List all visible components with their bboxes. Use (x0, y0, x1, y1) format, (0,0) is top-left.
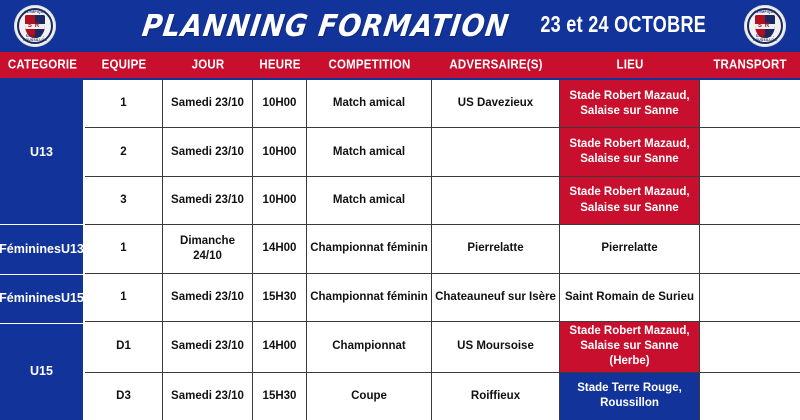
crest-bottom-text: SALAISE - ROUSSILLON (744, 34, 786, 42)
table-row: 1Samedi 23/1010H00Match amicalUS Davezie… (85, 80, 800, 128)
cell-competition: Coupe (307, 373, 432, 420)
column-header-heure: HEURE (253, 50, 307, 80)
category-label-line: Féminines (0, 290, 61, 307)
table-header-row: CATEGORIE EQUIPE JOUR HEURE COMPETITION … (0, 52, 800, 80)
planning-poster: OLYMPIQUE SR SALAISE - ROUSSILLON PLANNI… (0, 0, 800, 420)
category-cell: FémininesU13 (0, 225, 83, 274)
cell-competition: Match amical (307, 177, 432, 224)
category-label-line: U13 (30, 144, 53, 161)
column-header-transport: TRANSPORT (700, 50, 800, 80)
table-row: 2Samedi 23/1010H00Match amicalStade Robe… (85, 128, 800, 176)
crest-top-text: OLYMPIQUE (744, 10, 786, 14)
table-rows: 1Samedi 23/1010H00Match amicalUS Davezie… (85, 80, 800, 420)
category-label-line: U13 (61, 241, 84, 258)
cell-transport (700, 128, 800, 175)
cell-competition: Match amical (307, 80, 432, 127)
cell-lieu: Saint Romain de Surieu (560, 274, 700, 321)
column-header-lieu: LIEU (560, 50, 700, 80)
cell-heure: 10H00 (253, 128, 307, 175)
category-cell: U15 (0, 324, 83, 420)
column-header-equipe: EQUIPE (85, 50, 163, 80)
cell-jour: Samedi 23/10 (163, 373, 253, 420)
category-label-line: U15 (30, 363, 53, 380)
category-column: U13FémininesU13FémininesU15U15 (0, 80, 85, 420)
cell-jour: Samedi 23/10 (163, 80, 253, 127)
cell-heure: 15H30 (253, 274, 307, 321)
poster-banner: OLYMPIQUE SR SALAISE - ROUSSILLON PLANNI… (0, 0, 800, 52)
cell-adversaire: Chateauneuf sur Isère (432, 274, 560, 321)
cell-heure: 14H00 (253, 225, 307, 272)
cell-heure: 15H30 (253, 373, 307, 420)
column-header-jour: JOUR (163, 50, 253, 80)
cell-competition: Championnat féminin (307, 274, 432, 321)
cell-lieu: Stade Robert Mazaud, Salaise sur Sanne (560, 128, 700, 175)
cell-equipe: 1 (85, 274, 163, 321)
cell-equipe: D1 (85, 322, 163, 372)
club-crest-left-icon: OLYMPIQUE SR SALAISE - ROUSSILLON (14, 5, 56, 47)
club-crest-right-icon: OLYMPIQUE SR SALAISE - ROUSSILLON (744, 5, 786, 47)
category-label-line: Féminines (0, 241, 61, 258)
cell-transport (700, 177, 800, 224)
cell-jour: Dimanche 24/10 (163, 225, 253, 272)
cell-equipe: 2 (85, 128, 163, 175)
cell-competition: Championnat féminin (307, 225, 432, 272)
column-header-competition: COMPETITION (307, 50, 432, 80)
category-label-line: U15 (61, 290, 84, 307)
cell-jour: Samedi 23/10 (163, 128, 253, 175)
cell-adversaire: US Moursoise (432, 322, 560, 372)
planning-table: CATEGORIE EQUIPE JOUR HEURE COMPETITION … (0, 52, 800, 420)
table-row: 1Samedi 23/1015H30Championnat fémininCha… (85, 274, 800, 322)
cell-lieu: Stade Robert Mazaud, Salaise sur Sanne (560, 177, 700, 224)
column-header-categorie: CATEGORIE (0, 50, 85, 80)
cell-jour: Samedi 23/10 (163, 322, 253, 372)
cell-heure: 10H00 (253, 177, 307, 224)
table-row: D1Samedi 23/1014H00ChampionnatUS Moursoi… (85, 322, 800, 373)
cell-jour: Samedi 23/10 (163, 177, 253, 224)
cell-transport (700, 225, 800, 272)
banner-date: 23 et 24 OCTOBRE (540, 13, 706, 40)
cell-adversaire (432, 177, 560, 224)
cell-jour: Samedi 23/10 (163, 274, 253, 321)
table-row: 1Dimanche 24/1014H00Championnat fémininP… (85, 225, 800, 273)
crest-bottom-text: SALAISE - ROUSSILLON (14, 34, 56, 42)
cell-adversaire: Roiffieux (432, 373, 560, 420)
cell-lieu: Stade Robert Mazaud, Salaise sur Sanne (560, 80, 700, 127)
cell-heure: 10H00 (253, 80, 307, 127)
cell-lieu: Stade Terre Rouge, Roussillon (560, 373, 700, 420)
table-row: D3Samedi 23/1015H30CoupeRoiffieuxStade T… (85, 373, 800, 420)
table-body: U13FémininesU13FémininesU15U15 1Samedi 2… (0, 80, 800, 420)
crest-top-text: OLYMPIQUE (14, 10, 56, 14)
page-title: PLANNING FORMATION (114, 9, 538, 44)
cell-equipe: D3 (85, 373, 163, 420)
cell-transport (700, 80, 800, 127)
cell-heure: 14H00 (253, 322, 307, 372)
category-cell: U13 (0, 80, 83, 225)
cell-adversaire (432, 128, 560, 175)
category-cell: FémininesU15 (0, 275, 83, 324)
cell-competition: Match amical (307, 128, 432, 175)
cell-lieu: Stade Robert Mazaud, Salaise sur Sanne (… (560, 322, 700, 372)
cell-adversaire: Pierrelatte (432, 225, 560, 272)
cell-transport (700, 373, 800, 420)
cell-transport (700, 274, 800, 321)
cell-competition: Championnat (307, 322, 432, 372)
cell-equipe: 1 (85, 225, 163, 272)
cell-transport (700, 322, 800, 372)
cell-adversaire: US Davezieux (432, 80, 560, 127)
column-header-adversaire: ADVERSAIRE(S) (432, 50, 560, 80)
cell-equipe: 1 (85, 80, 163, 127)
table-row: 3Samedi 23/1010H00Match amicalStade Robe… (85, 177, 800, 225)
cell-equipe: 3 (85, 177, 163, 224)
cell-lieu: Pierrelatte (560, 225, 700, 272)
